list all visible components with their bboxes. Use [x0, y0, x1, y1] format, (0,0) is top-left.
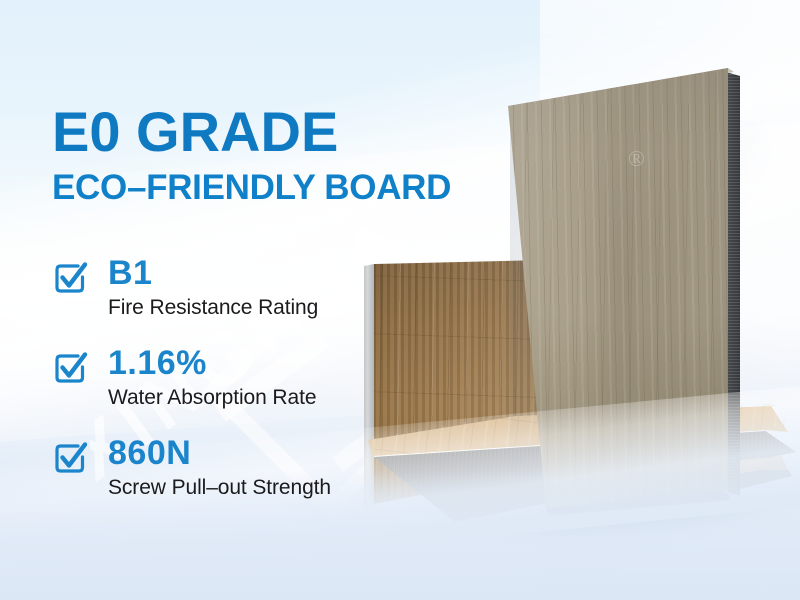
feature-item-screw-pullout: 860N Screw Pull–out Strength	[52, 436, 472, 526]
feature-value: B1	[108, 253, 152, 294]
promo-banner: XINGHUA ® E0 GRADE ECO–FRIENDLY BOARD	[0, 0, 800, 600]
feature-value: 860N	[108, 433, 191, 474]
checkbox-checked-icon	[52, 350, 88, 386]
subheadline: ECO–FRIENDLY BOARD	[52, 170, 451, 205]
feature-list: B1 Fire Resistance Rating 1.16% Water Ab…	[52, 256, 472, 526]
checkbox-checked-icon	[52, 440, 88, 476]
feature-item-fire-resistance: B1 Fire Resistance Rating	[52, 256, 472, 346]
feature-label: Water Absorption Rate	[108, 385, 316, 410]
feature-label: Fire Resistance Rating	[108, 295, 318, 320]
trademark-symbol: ®	[628, 146, 645, 172]
feature-value: 1.16%	[108, 343, 207, 384]
checkbox-checked-icon	[52, 260, 88, 296]
headline: E0 GRADE	[52, 104, 338, 160]
feature-item-water-absorption: 1.16% Water Absorption Rate	[52, 346, 472, 436]
feature-label: Screw Pull–out Strength	[108, 475, 331, 500]
